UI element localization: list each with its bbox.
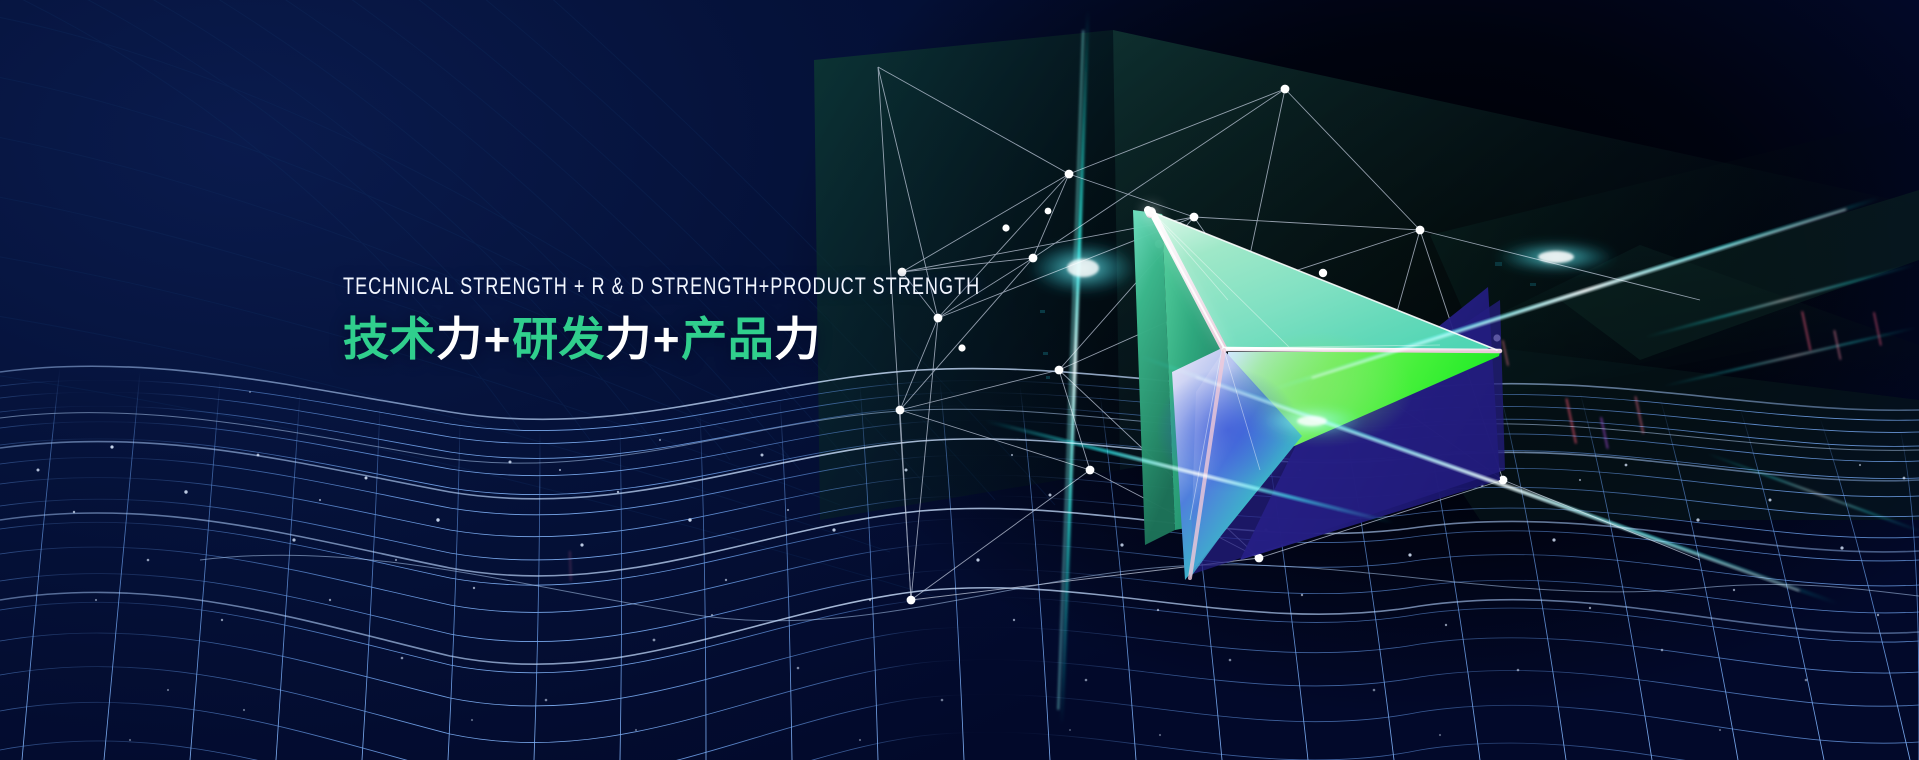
prism-left-back-face: [1133, 210, 1175, 545]
headline-seg-1: 力: [436, 313, 483, 365]
background-curve-grid: [0, 0, 1919, 760]
prism-right-face-big: [1228, 352, 1502, 470]
dark-slab-polygons: [0, 0, 1919, 760]
headline-seg-6: 产品: [681, 313, 774, 365]
headline-main: 技术力+研发力+产品力: [343, 314, 1083, 366]
prism-top-face: [1152, 212, 1492, 348]
wireframe-wave-mesh: [0, 0, 1919, 760]
prism-right-face: [1228, 352, 1500, 470]
headline-seg-3: 研发: [512, 313, 605, 365]
prism-lower-face-b: [1190, 350, 1296, 578]
prism-top-face-right: [1152, 212, 1497, 352]
hero-banner: TECHNICAL STRENGTH + R & D STRENGTH+PROD…: [0, 0, 1919, 760]
prism-lower-face: [1172, 348, 1302, 580]
particle-field: [0, 0, 1919, 760]
prism-left-side-face: [1162, 214, 1230, 530]
headline-block: TECHNICAL STRENGTH + R & D STRENGTH+PROD…: [343, 278, 1083, 365]
headline-seg-7: 力: [774, 313, 821, 365]
node-network: [0, 0, 1919, 760]
headline-seg-2: +: [483, 313, 512, 365]
triangular-prism-graphic: [0, 0, 1919, 760]
headline-seg-5: +: [652, 313, 681, 365]
prism-shadow-face: [1240, 287, 1500, 560]
headline-eyebrow: TECHNICAL STRENGTH + R & D STRENGTH+PROD…: [343, 276, 1031, 300]
headline-seg-0: 技术: [343, 313, 436, 365]
headline-seg-4: 力: [605, 313, 652, 365]
cyan-light-streaks: [0, 0, 1919, 760]
